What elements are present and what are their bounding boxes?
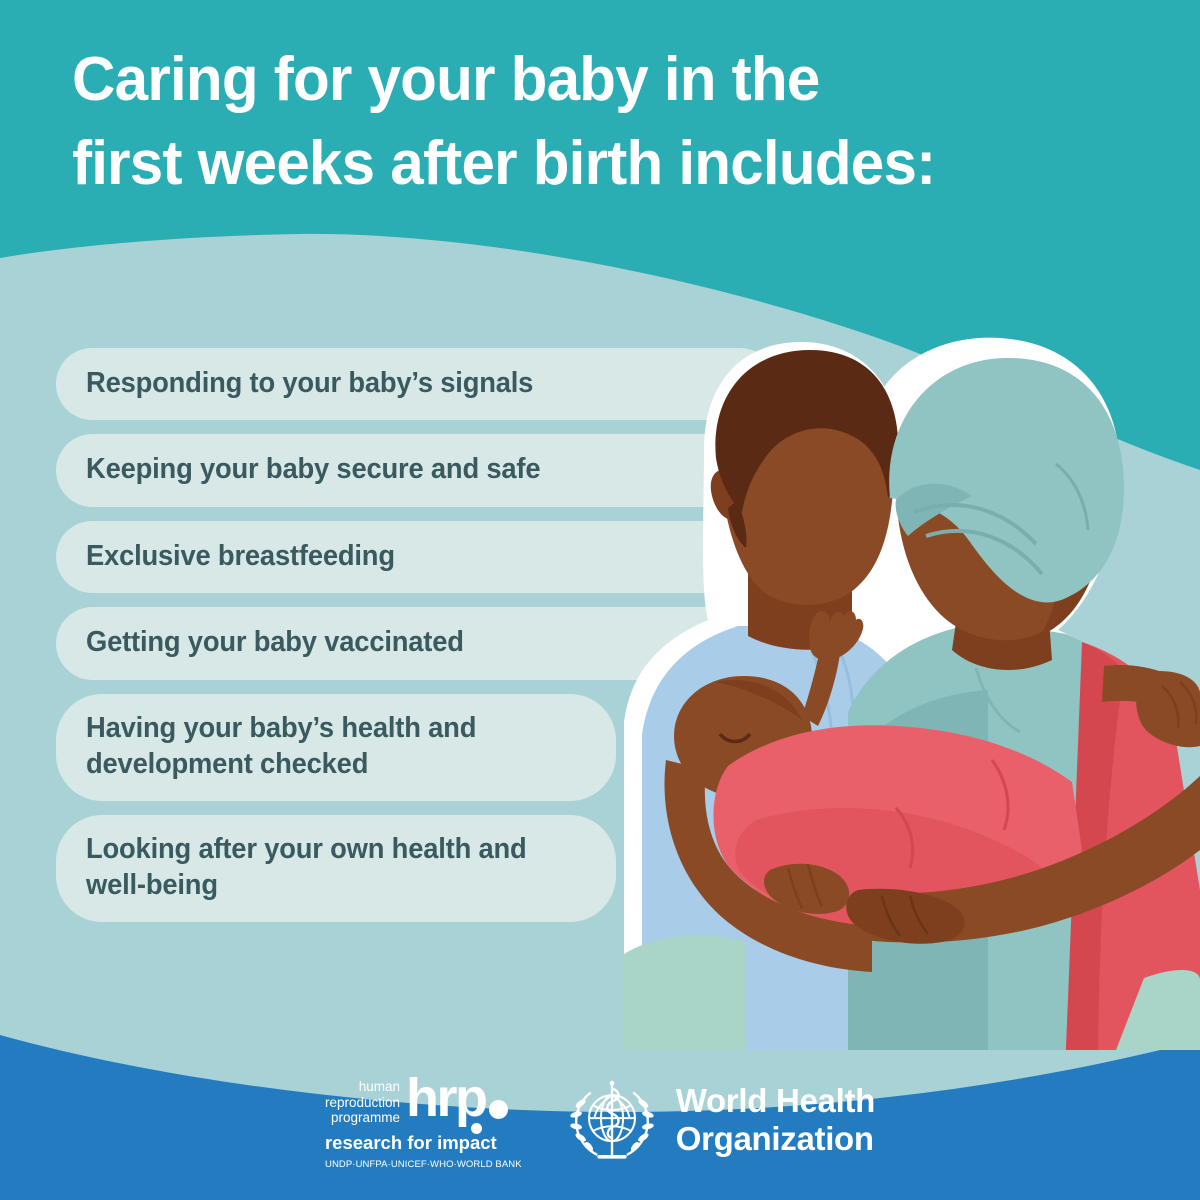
list-item-label: Getting your baby vaccinated: [86, 624, 464, 660]
title-line-2: first weeks after birth includes:: [72, 122, 1071, 206]
title-line-1: Caring for your baby in the: [72, 38, 1071, 122]
who-name-line-1: World Health: [676, 1082, 875, 1120]
page-title: Caring for your baby in the first weeks …: [72, 38, 1102, 207]
who-name-line-2: Organization: [676, 1120, 875, 1158]
who-logo: World Health Organization: [566, 1074, 875, 1166]
list-item-label: Looking after your own health and well-b…: [86, 831, 547, 904]
footer-logos: human reproduction programme hrp researc…: [0, 1040, 1200, 1200]
hrp-word-programme: programme: [325, 1110, 400, 1126]
hrp-word-reproduction: reproduction: [325, 1095, 400, 1111]
hrp-logo: human reproduction programme hrp researc…: [325, 1070, 522, 1170]
list-item: Looking after your own health and well-b…: [56, 815, 616, 922]
list-item-label: Responding to your baby’s signals: [86, 365, 533, 401]
family-illustration-svg: [596, 330, 1200, 1050]
list-item-label: Having your baby’s health and developmen…: [86, 710, 556, 783]
hrp-tagline: research for impact: [325, 1132, 497, 1154]
list-item-label: Keeping your baby secure and safe: [86, 451, 540, 487]
list-item: Having your baby’s health and developmen…: [56, 694, 616, 801]
who-emblem-icon: [566, 1074, 658, 1166]
hrp-dot-small-icon: [471, 1123, 482, 1134]
list-item-label: Exclusive breastfeeding: [86, 538, 395, 574]
who-name: World Health Organization: [676, 1082, 875, 1157]
hrp-logo-top: human reproduction programme hrp: [325, 1074, 510, 1130]
hrp-dot-large-icon: [489, 1100, 508, 1119]
infographic-poster: Caring for your baby in the first weeks …: [0, 0, 1200, 1200]
man-trousers: [624, 935, 746, 1050]
hrp-wordmark-block: hrp: [406, 1074, 510, 1130]
family-illustration: [596, 330, 1200, 1050]
hrp-wordstack: human reproduction programme: [325, 1079, 400, 1130]
hrp-partners: UNDP·UNFPA·UNICEF·WHO·WORLD BANK: [325, 1159, 522, 1170]
hrp-word-human: human: [325, 1079, 400, 1095]
